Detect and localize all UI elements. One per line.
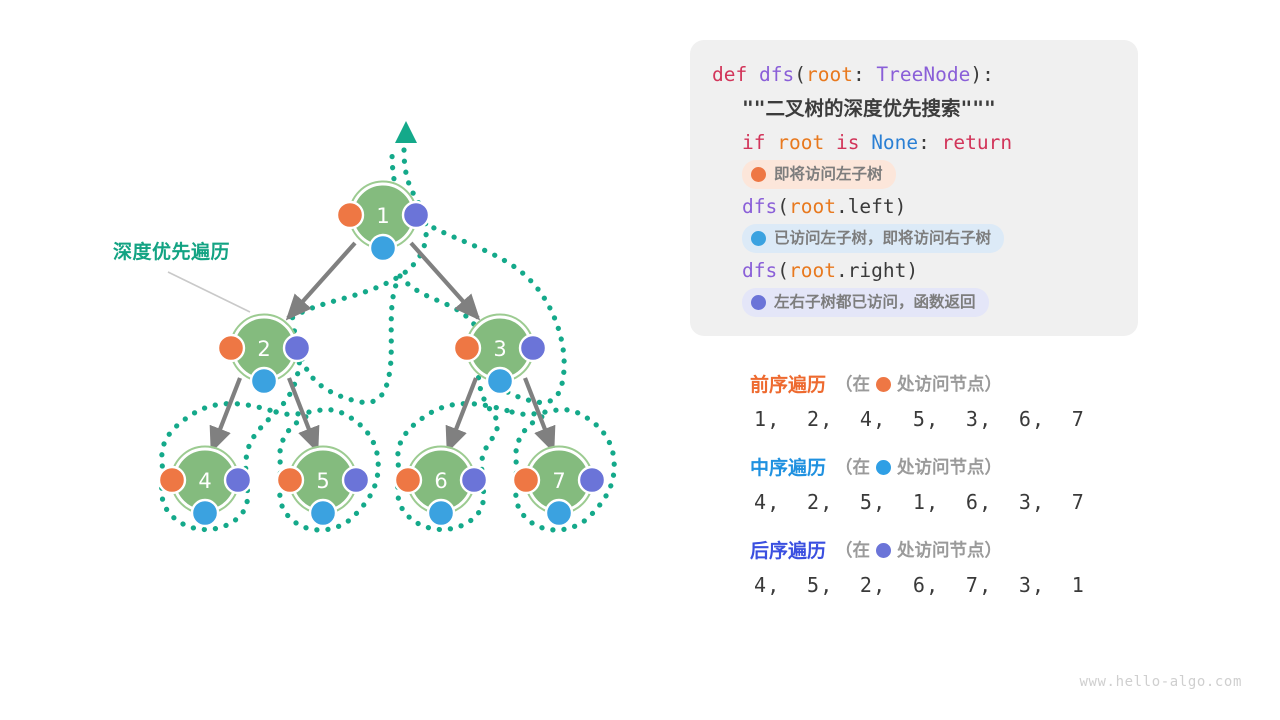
code-block: def dfs(root: TreeNode): ""二叉树的深度优先搜索"""…: [690, 40, 1138, 336]
badge-inorder-label: 已访问左子树，即将访问右子树: [774, 227, 991, 249]
traversal-paren-open: （在: [835, 371, 870, 396]
traversal-heading: 后序遍历（在处访问节点）: [750, 536, 1220, 563]
kw-if: if: [742, 131, 765, 154]
attr-left: .left: [836, 195, 895, 218]
type-colon: :: [853, 63, 876, 86]
tree-node-3[interactable]: 3: [454, 315, 546, 395]
preorder-dot-icon: [277, 467, 303, 493]
traversal-heading: 中序遍历（在处访问节点）: [750, 453, 1220, 480]
traversal-sequence: 1, 2, 4, 5, 3, 6, 7: [754, 407, 1220, 431]
node-value: 4: [198, 469, 211, 493]
edge-2-4: [212, 378, 240, 450]
inorder-dot-icon: [370, 235, 396, 261]
dfs-annotation-label: 深度优先遍历: [113, 237, 230, 264]
preorder-dot-icon: [454, 335, 480, 361]
attr-right: .right: [836, 259, 906, 282]
traversal-dot-icon: [876, 460, 891, 475]
tree-node-2[interactable]: 2: [218, 315, 310, 395]
traversal-name: 前序遍历: [750, 370, 826, 397]
postorder-dot-icon: [343, 467, 369, 493]
postorder-dot-icon: [225, 467, 251, 493]
traversal-sequence: 4, 5, 2, 6, 7, 3, 1: [754, 573, 1220, 597]
const-none: None: [871, 131, 918, 154]
tree-panel: 1234567 深度优先遍历: [0, 0, 680, 720]
inorder-dot-icon: [251, 368, 277, 394]
node-value: 1: [376, 204, 389, 228]
postorder-dot-icon: [579, 467, 605, 493]
inorder-dot-icon: [546, 500, 572, 526]
inorder-dot-icon: [192, 500, 218, 526]
traversal-dot-icon: [876, 543, 891, 558]
badge-row-pre: 即将访问左子树: [712, 160, 1118, 190]
watermark: www.hello-algo.com: [1079, 674, 1242, 690]
traversal-paren-open: （在: [835, 454, 870, 479]
guard-colon: :: [918, 131, 941, 154]
preorder-dot-icon: [513, 467, 539, 493]
node-value: 6: [434, 469, 447, 493]
return-arrow-icon: [395, 121, 417, 143]
node-value: 3: [493, 337, 506, 361]
call-dfs-right: dfs: [742, 259, 777, 282]
preorder-dot-icon: [337, 202, 363, 228]
preorder-dot-icon: [395, 467, 421, 493]
paren-close-right: ): [906, 259, 918, 282]
traversal-heading: 前序遍历（在处访问节点）: [750, 370, 1220, 397]
edge-1-3: [411, 243, 478, 318]
traversal-paren-close: 处访问节点）: [897, 371, 1002, 396]
postorder-dot-icon: [284, 335, 310, 361]
call-dfs-left: dfs: [742, 195, 777, 218]
inorder-dot-icon: [487, 368, 513, 394]
inorder-dot-icon: [310, 500, 336, 526]
fn-name: dfs: [759, 63, 794, 86]
tree-node-4[interactable]: 4: [159, 447, 251, 527]
kw-return: return: [942, 131, 1012, 154]
paren-open: (: [794, 63, 806, 86]
paren-close: ):: [970, 63, 993, 86]
diagram-page: 1234567 深度优先遍历 def dfs(root: TreeNode): …: [0, 0, 1280, 720]
badge-row-post: 左右子树都已访问，函数返回: [712, 288, 1118, 318]
preorder-dot-icon: [218, 335, 244, 361]
traversal-name: 后序遍历: [750, 536, 826, 563]
tree-nodes: 1234567: [159, 182, 605, 527]
code-line-dfs-right: dfs(root.right): [712, 254, 1118, 288]
traversal-paren-open: （在: [835, 537, 870, 562]
node-value: 2: [257, 337, 270, 361]
var-root: root: [777, 131, 824, 154]
traversal-name: 中序遍历: [750, 453, 826, 480]
badge-inorder: 已访问左子树，即将访问右子树: [742, 224, 1004, 253]
kw-is: is: [836, 131, 859, 154]
preorder-dot-icon: [159, 467, 185, 493]
node-value: 5: [316, 469, 329, 493]
traversal-paren-close: 处访问节点）: [897, 537, 1002, 562]
traversal-entry: 前序遍历（在处访问节点）1, 2, 4, 5, 3, 6, 7: [750, 370, 1220, 431]
traversal-paren-close: 处访问节点）: [897, 454, 1002, 479]
code-line-def: def dfs(root: TreeNode):: [712, 58, 1118, 92]
badge-row-in: 已访问左子树，即将访问右子树: [712, 224, 1118, 254]
edge-1-2: [288, 243, 355, 318]
badge-postorder-label: 左右子树都已访问，函数返回: [774, 291, 976, 313]
code-line-docstring: ""二叉树的深度优先搜索""": [712, 92, 1118, 126]
paren-open-left: (: [777, 195, 789, 218]
traversal-legend: 前序遍历（在处访问节点）1, 2, 4, 5, 3, 6, 7中序遍历（在处访问…: [750, 370, 1220, 619]
postorder-dot-icon: [461, 467, 487, 493]
kw-def: def: [712, 63, 747, 86]
code-line-dfs-left: dfs(root.left): [712, 190, 1118, 224]
arg-root: root: [806, 63, 853, 86]
tree-node-6[interactable]: 6: [395, 447, 487, 527]
postorder-dot-icon: [520, 335, 546, 361]
edge-3-6: [448, 378, 476, 450]
inorder-dot-icon: [428, 500, 454, 526]
type-treenode: TreeNode: [876, 63, 970, 86]
traversal-entry: 后序遍历（在处访问节点）4, 5, 2, 6, 7, 3, 1: [750, 536, 1220, 597]
paren-close-left: ): [895, 195, 907, 218]
code-line-guard: if root is None: return: [712, 126, 1118, 160]
badge-preorder: 即将访问左子树: [742, 160, 896, 189]
traversal-dot-icon: [876, 377, 891, 392]
traversal-sequence: 4, 2, 5, 1, 6, 3, 7: [754, 490, 1220, 514]
traversal-entry: 中序遍历（在处访问节点）4, 2, 5, 1, 6, 3, 7: [750, 453, 1220, 514]
postorder-dot-icon: [403, 202, 429, 228]
postorder-dot-icon: [751, 295, 766, 310]
node-value: 7: [552, 469, 565, 493]
tree-diagram: 1234567: [0, 0, 680, 720]
edge-2-5: [289, 378, 317, 450]
edge-3-7: [525, 378, 553, 450]
badge-preorder-label: 即将访问左子树: [774, 163, 883, 185]
badge-postorder: 左右子树都已访问，函数返回: [742, 288, 989, 317]
preorder-dot-icon: [751, 167, 766, 182]
var-root-left: root: [789, 195, 836, 218]
var-root-right: root: [789, 259, 836, 282]
paren-open-right: (: [777, 259, 789, 282]
inorder-dot-icon: [751, 231, 766, 246]
